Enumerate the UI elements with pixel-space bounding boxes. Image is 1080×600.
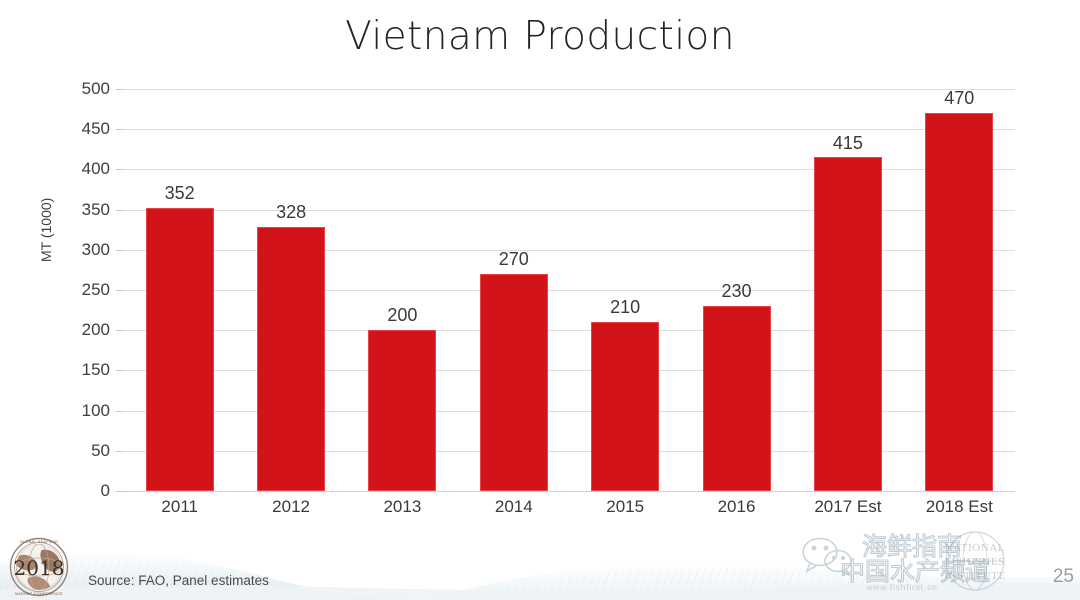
bar-group-2015[interactable]: 210 [591, 89, 659, 491]
bar-group-2012[interactable]: 328 [257, 89, 325, 491]
bar-group-2014[interactable]: 270 [480, 89, 548, 491]
conference-logo: 2018 GLOBAL SEAFOOD MARKET CONFERENCE [6, 536, 72, 598]
y-tick-50: 50 [91, 441, 110, 461]
x-tick-2014: 2014 [495, 497, 533, 517]
bar-2014[interactable] [480, 274, 548, 491]
x-tick-2017-est: 2017 Est [814, 497, 881, 517]
y-tick-200: 200 [82, 320, 110, 340]
page-number: 25 [1053, 566, 1074, 588]
bar-label-2018-est: 470 [944, 88, 974, 109]
y-tick-350: 350 [82, 200, 110, 220]
chinese-watermark: 海鲜指南 中国水产频道 www.fishfirst.cn [794, 528, 1004, 592]
nfi-line1: NATIONAL [945, 542, 1005, 554]
bar-group-2018-est[interactable]: 470 [925, 89, 993, 491]
bar-group-2016[interactable]: 230 [703, 89, 771, 491]
page-title: Vietnam Production [0, 14, 1080, 59]
x-tick-2018-est: 2018 Est [926, 497, 993, 517]
plot-area: 352 328 200 270 210 230 415 470 [124, 89, 1015, 491]
nfi-line2: FISHERIES [945, 556, 1005, 568]
y-tick-500: 500 [82, 79, 110, 99]
y-tick-150: 150 [82, 360, 110, 380]
bar-2017-est[interactable] [814, 157, 882, 491]
source-note: Source: FAO, Panel estimates [88, 573, 269, 588]
slide-canvas: Vietnam Production MT (1000) 0 50 100 15… [0, 0, 1080, 600]
logo-year-text: 2018 [14, 556, 65, 580]
bar-group-2013[interactable]: 200 [368, 89, 436, 491]
bar-group-2011[interactable]: 352 [146, 89, 214, 491]
y-axis-tick-labels: 0 50 100 150 200 250 300 350 400 450 500 [0, 89, 114, 491]
nfi-watermark: NATIONAL FISHERIES INSTITUTE [910, 530, 1040, 592]
x-tick-2013: 2013 [383, 497, 421, 517]
bar-2011[interactable] [146, 208, 214, 491]
logo-bottom-text: MARKET CONFERENCE [15, 592, 63, 596]
nfi-line3: INSTITUTE [944, 570, 1006, 582]
y-tick-250: 250 [82, 280, 110, 300]
bar-label-2015: 210 [610, 297, 640, 318]
watermark-site-url: www.fishfirst.cn [865, 582, 937, 592]
logo-top-text: GLOBAL SEAFOOD [20, 540, 58, 544]
bar-label-2012: 328 [276, 202, 306, 223]
x-tick-2012: 2012 [272, 497, 310, 517]
bar-label-2014: 270 [499, 249, 529, 270]
watermark-chinese-line2: 中国水产频道 [840, 557, 990, 586]
x-tick-2015: 2015 [606, 497, 644, 517]
bar-2016[interactable] [703, 306, 771, 491]
bar-2018-est[interactable] [925, 113, 993, 491]
background-wave-decoration [0, 520, 1080, 600]
bar-label-2013: 200 [387, 305, 417, 326]
wechat-icon [803, 539, 851, 576]
bar-label-2017-est: 415 [833, 133, 863, 154]
y-tick-400: 400 [82, 159, 110, 179]
x-tick-2016: 2016 [718, 497, 756, 517]
bar-group-2017-est[interactable]: 415 [814, 89, 882, 491]
x-axis-tick-labels: 2011 2012 2013 2014 2015 2016 2017 Est 2… [124, 497, 1015, 529]
bar-2012[interactable] [257, 227, 325, 491]
y-tick-450: 450 [82, 119, 110, 139]
y-tick-100: 100 [82, 401, 110, 421]
bar-label-2016: 230 [721, 281, 751, 302]
bar-2015[interactable] [591, 322, 659, 491]
bar-2013[interactable] [368, 330, 436, 491]
gridline-0 [124, 491, 1015, 492]
watermark-chinese-line1: 海鲜指南 [862, 532, 962, 561]
y-tick-300: 300 [82, 240, 110, 260]
y-tick-0: 0 [101, 481, 110, 501]
x-tick-2011: 2011 [161, 497, 198, 517]
bar-label-2011: 352 [165, 183, 195, 204]
